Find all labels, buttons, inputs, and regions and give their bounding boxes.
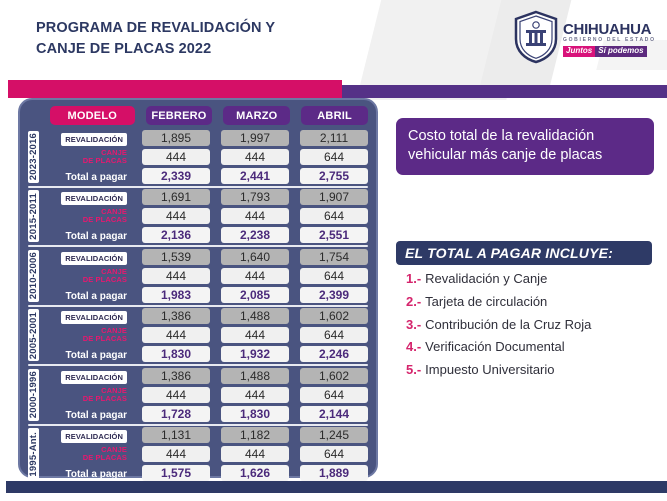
canje-label-line2: DE PLACAS — [43, 157, 127, 165]
model-group: 2015-2011REVALIDACIÓN1,6911,7931,907CANJ… — [20, 187, 376, 247]
model-group-values: REVALIDACIÓN1,5391,6401,754CANJEDE PLACA… — [43, 248, 368, 304]
total-label: Total a pagar — [66, 410, 128, 421]
cell-canje: 644 — [300, 149, 368, 165]
model-group-row: 1995-Ant.REVALIDACIÓN1,1311,1821,245CANJ… — [28, 427, 368, 483]
canje-label: CANJEDE PLACAS — [43, 387, 127, 403]
cell-canje: 644 — [300, 387, 368, 403]
revalidacion-label: REVALIDACIÓN — [61, 192, 127, 205]
row-label-canje: CANJEDE PLACAS — [43, 387, 131, 403]
revalidacion-label: REVALIDACIÓN — [61, 311, 127, 324]
cell-total: 2,339 — [142, 168, 210, 184]
table-row: CANJEDE PLACAS444444644 — [43, 327, 368, 345]
column-header-febrero: FEBRERO — [146, 106, 213, 125]
cell-revalidacion: 1,907 — [300, 189, 368, 205]
divider-band-pink — [8, 80, 342, 98]
table-row: REVALIDACIÓN1,6911,7931,907 — [43, 189, 368, 207]
table-row: REVALIDACIÓN1,3861,4881,602 — [43, 308, 368, 326]
table-row: REVALIDACIÓN1,1311,1821,245 — [43, 427, 368, 445]
table-row: CANJEDE PLACAS444444644 — [43, 446, 368, 464]
cell-canje: 444 — [221, 268, 289, 284]
cell-canje: 644 — [300, 208, 368, 224]
list-item: 5.-Impuesto Universitario — [406, 363, 666, 377]
table-row: Total a pagar2,1362,2382,551 — [43, 227, 368, 245]
model-group: 2005-2001REVALIDACIÓN1,3861,4881,602CANJ… — [20, 306, 376, 366]
header: PROGRAMA DE REVALIDACIÓN Y CANJE DE PLAC… — [0, 0, 667, 72]
revalidacion-label: REVALIDACIÓN — [61, 133, 127, 146]
cell-revalidacion: 1,691 — [142, 189, 210, 205]
list-item: 2.-Tarjeta de circulación — [406, 295, 666, 309]
column-header-abril: ABRIL — [301, 106, 368, 125]
model-years-label: 1995-Ant. — [28, 432, 39, 477]
cell-total: 2,755 — [300, 168, 368, 184]
list-item-text: Verificación Documental — [425, 340, 564, 354]
row-label-canje: CANJEDE PLACAS — [43, 208, 131, 224]
list-item: 1.-Revalidación y Canje — [406, 272, 666, 286]
revalidacion-label: REVALIDACIÓN — [61, 371, 127, 384]
cell-revalidacion: 1,602 — [300, 308, 368, 324]
row-label-total: Total a pagar — [43, 405, 131, 423]
cell-revalidacion: 1,131 — [142, 427, 210, 443]
table-row: Total a pagar1,7281,8302,144 — [43, 405, 368, 423]
model-group-values: REVALIDACIÓN1,8951,9972,111CANJEDE PLACA… — [43, 129, 368, 185]
model-years-label: 2023-2016 — [28, 133, 39, 180]
table-row: REVALIDACIÓN1,3861,4881,602 — [43, 367, 368, 385]
shield-icon — [513, 10, 559, 64]
cell-total: 1,830 — [142, 346, 210, 362]
canje-label-line2: DE PLACAS — [43, 395, 127, 403]
table-row: CANJEDE PLACAS444444644 — [43, 267, 368, 285]
model-group-row: 2005-2001REVALIDACIÓN1,3861,4881,602CANJ… — [28, 308, 368, 364]
list-item-text: Tarjeta de circulación — [425, 295, 547, 309]
revalidacion-label: REVALIDACIÓN — [61, 430, 127, 443]
model-group-row: 2000-1996REVALIDACIÓN1,3861,4881,602CANJ… — [28, 367, 368, 423]
row-label-total: Total a pagar — [43, 226, 131, 244]
list-item-number: 5.- — [406, 363, 421, 377]
canje-label: CANJEDE PLACAS — [43, 446, 127, 462]
row-label-revalidacion: REVALIDACIÓN — [43, 248, 131, 266]
cell-total: 1,626 — [221, 465, 289, 481]
page-title-line2: CANJE DE PLACAS 2022 — [36, 39, 275, 60]
cell-canje: 644 — [300, 327, 368, 343]
table-row: CANJEDE PLACAS444444644 — [43, 148, 368, 166]
cell-revalidacion: 1,386 — [142, 368, 210, 384]
cost-note-callout: Costo total de la revalidación vehicular… — [396, 118, 654, 175]
tagline-juntos: Juntos — [563, 46, 595, 57]
cell-revalidacion: 1,793 — [221, 189, 289, 205]
row-label-total: Total a pagar — [43, 286, 131, 304]
model-years-label: 2010-2006 — [28, 252, 39, 299]
cell-revalidacion: 1,997 — [221, 130, 289, 146]
total-label: Total a pagar — [66, 469, 128, 480]
pricing-table: MODELO FEBRERO MARZO ABRIL 2023-2016REVA… — [18, 98, 378, 478]
row-label-total: Total a pagar — [43, 167, 131, 185]
cell-revalidacion: 1,895 — [142, 130, 210, 146]
cell-canje: 444 — [221, 149, 289, 165]
row-label-total: Total a pagar — [43, 464, 131, 482]
list-item-text: Revalidación y Canje — [425, 272, 547, 286]
cell-canje: 444 — [221, 327, 289, 343]
total-label: Total a pagar — [66, 291, 128, 302]
column-header-modelo: MODELO — [50, 106, 135, 125]
model-group-values: REVALIDACIÓN1,3861,4881,602CANJEDE PLACA… — [43, 367, 368, 423]
cell-total: 2,399 — [300, 287, 368, 303]
cell-canje: 444 — [221, 446, 289, 462]
row-label-revalidacion: REVALIDACIÓN — [43, 129, 131, 147]
row-label-canje: CANJEDE PLACAS — [43, 327, 131, 343]
cell-total: 2,144 — [300, 406, 368, 422]
table-header-row: MODELO FEBRERO MARZO ABRIL — [20, 100, 376, 127]
total-label: Total a pagar — [66, 231, 128, 242]
column-header-marzo: MARZO — [223, 106, 290, 125]
logo-subtitle: GOBIERNO DEL ESTADO — [563, 38, 656, 43]
table-body: 2023-2016REVALIDACIÓN1,8951,9972,111CANJ… — [20, 127, 376, 484]
table-row: REVALIDACIÓN1,8951,9972,111 — [43, 129, 368, 147]
table-row: CANJEDE PLACAS444444644 — [43, 386, 368, 404]
cell-revalidacion: 1,754 — [300, 249, 368, 265]
includes-list: 1.-Revalidación y Canje2.-Tarjeta de cir… — [406, 272, 666, 386]
model-group: 2000-1996REVALIDACIÓN1,3861,4881,602CANJ… — [20, 365, 376, 425]
cell-canje: 444 — [142, 268, 210, 284]
model-years-cell: 2015-2011 — [28, 190, 39, 242]
row-label-revalidacion: REVALIDACIÓN — [43, 307, 131, 325]
cell-total: 1,889 — [300, 465, 368, 481]
cell-revalidacion: 2,111 — [300, 130, 368, 146]
list-item-text: Contribución de la Cruz Roja — [425, 318, 591, 332]
tagline-si-podemos: Sí podemos — [595, 46, 646, 57]
model-years-cell: 1995-Ant. — [28, 428, 39, 480]
model-group-values: REVALIDACIÓN1,6911,7931,907CANJEDE PLACA… — [43, 189, 368, 245]
model-years-cell: 2023-2016 — [28, 131, 39, 183]
cell-revalidacion: 1,488 — [221, 368, 289, 384]
government-logo: CHIHUAHUA GOBIERNO DEL ESTADO Juntos Sí … — [513, 8, 659, 66]
list-item: 3.-Contribución de la Cruz Roja — [406, 318, 666, 332]
cell-canje: 444 — [221, 208, 289, 224]
model-years-cell: 2000-1996 — [28, 369, 39, 421]
total-label: Total a pagar — [66, 172, 128, 183]
model-years-label: 2000-1996 — [28, 371, 39, 418]
cost-note-line1: Costo total de la revalidación — [408, 127, 642, 146]
list-item: 4.-Verificación Documental — [406, 340, 666, 354]
revalidacion-label: REVALIDACIÓN — [61, 252, 127, 265]
table-row: Total a pagar2,3392,4412,755 — [43, 167, 368, 185]
model-group-row: 2015-2011REVALIDACIÓN1,6911,7931,907CANJ… — [28, 189, 368, 245]
list-item-text: Impuesto Universitario — [425, 363, 554, 377]
slide-page: PROGRAMA DE REVALIDACIÓN Y CANJE DE PLAC… — [0, 0, 667, 501]
cell-canje: 444 — [142, 446, 210, 462]
cell-total: 1,983 — [142, 287, 210, 303]
cell-canje: 644 — [300, 446, 368, 462]
cell-total: 2,238 — [221, 227, 289, 243]
cell-canje: 444 — [221, 387, 289, 403]
divider-band-purple — [342, 85, 667, 98]
row-label-revalidacion: REVALIDACIÓN — [43, 367, 131, 385]
cell-revalidacion: 1,602 — [300, 368, 368, 384]
cell-total: 1,932 — [221, 346, 289, 362]
cell-canje: 644 — [300, 268, 368, 284]
cell-total: 2,246 — [300, 346, 368, 362]
cell-revalidacion: 1,640 — [221, 249, 289, 265]
canje-label: CANJEDE PLACAS — [43, 327, 127, 343]
row-label-canje: CANJEDE PLACAS — [43, 446, 131, 462]
cell-revalidacion: 1,488 — [221, 308, 289, 324]
model-group: 2023-2016REVALIDACIÓN1,8951,9972,111CANJ… — [20, 127, 376, 187]
cell-revalidacion: 1,245 — [300, 427, 368, 443]
total-label: Total a pagar — [66, 350, 128, 361]
model-years-cell: 2010-2006 — [28, 250, 39, 302]
list-item-number: 3.- — [406, 318, 421, 332]
cell-revalidacion: 1,182 — [221, 427, 289, 443]
cell-total: 2,136 — [142, 227, 210, 243]
cell-revalidacion: 1,539 — [142, 249, 210, 265]
row-label-canje: CANJEDE PLACAS — [43, 149, 131, 165]
canje-label: CANJEDE PLACAS — [43, 268, 127, 284]
cell-total: 1,830 — [221, 406, 289, 422]
model-years-cell: 2005-2001 — [28, 309, 39, 361]
model-group-values: REVALIDACIÓN1,1311,1821,245CANJEDE PLACA… — [43, 427, 368, 483]
model-group: 1995-Ant.REVALIDACIÓN1,1311,1821,245CANJ… — [20, 425, 376, 485]
logo-tagline: Juntos Sí podemos — [563, 46, 656, 57]
canje-label: CANJEDE PLACAS — [43, 149, 127, 165]
includes-banner: EL TOTAL A PAGAR INCLUYE: — [396, 241, 652, 265]
cell-revalidacion: 1,386 — [142, 308, 210, 324]
cell-canje: 444 — [142, 208, 210, 224]
table-row: Total a pagar1,9832,0852,399 — [43, 286, 368, 304]
cell-canje: 444 — [142, 327, 210, 343]
canje-label-line2: DE PLACAS — [43, 216, 127, 224]
list-item-number: 4.- — [406, 340, 421, 354]
list-item-number: 2.- — [406, 295, 421, 309]
cell-total: 2,085 — [221, 287, 289, 303]
table-row: Total a pagar1,5751,6261,889 — [43, 465, 368, 483]
model-group-row: 2010-2006REVALIDACIÓN1,5391,6401,754CANJ… — [28, 248, 368, 304]
row-label-revalidacion: REVALIDACIÓN — [43, 426, 131, 444]
model-group-values: REVALIDACIÓN1,3861,4881,602CANJEDE PLACA… — [43, 308, 368, 364]
page-title: PROGRAMA DE REVALIDACIÓN Y CANJE DE PLAC… — [36, 18, 275, 60]
canje-label-line2: DE PLACAS — [43, 335, 127, 343]
model-years-label: 2015-2011 — [28, 193, 39, 240]
logo-name: CHIHUAHUA — [563, 22, 656, 37]
row-label-total: Total a pagar — [43, 345, 131, 363]
canje-label-line2: DE PLACAS — [43, 276, 127, 284]
list-item-number: 1.- — [406, 272, 421, 286]
table-row: CANJEDE PLACAS444444644 — [43, 208, 368, 226]
model-group-row: 2023-2016REVALIDACIÓN1,8951,9972,111CANJ… — [28, 129, 368, 185]
canje-label: CANJEDE PLACAS — [43, 208, 127, 224]
table-row: REVALIDACIÓN1,5391,6401,754 — [43, 248, 368, 266]
cost-note-line2: vehicular más canje de placas — [408, 146, 642, 165]
row-label-canje: CANJEDE PLACAS — [43, 268, 131, 284]
cell-canje: 444 — [142, 149, 210, 165]
cell-total: 2,551 — [300, 227, 368, 243]
canje-label-line2: DE PLACAS — [43, 454, 127, 462]
model-years-label: 2005-2001 — [28, 312, 39, 359]
cell-canje: 444 — [142, 387, 210, 403]
cell-total: 1,728 — [142, 406, 210, 422]
logo-text: CHIHUAHUA GOBIERNO DEL ESTADO Juntos Sí … — [563, 18, 656, 57]
cell-total: 1,575 — [142, 465, 210, 481]
row-label-revalidacion: REVALIDACIÓN — [43, 188, 131, 206]
page-title-line1: PROGRAMA DE REVALIDACIÓN Y — [36, 18, 275, 39]
model-group: 2010-2006REVALIDACIÓN1,5391,6401,754CANJ… — [20, 246, 376, 306]
table-row: Total a pagar1,8301,9322,246 — [43, 346, 368, 364]
cell-total: 2,441 — [221, 168, 289, 184]
